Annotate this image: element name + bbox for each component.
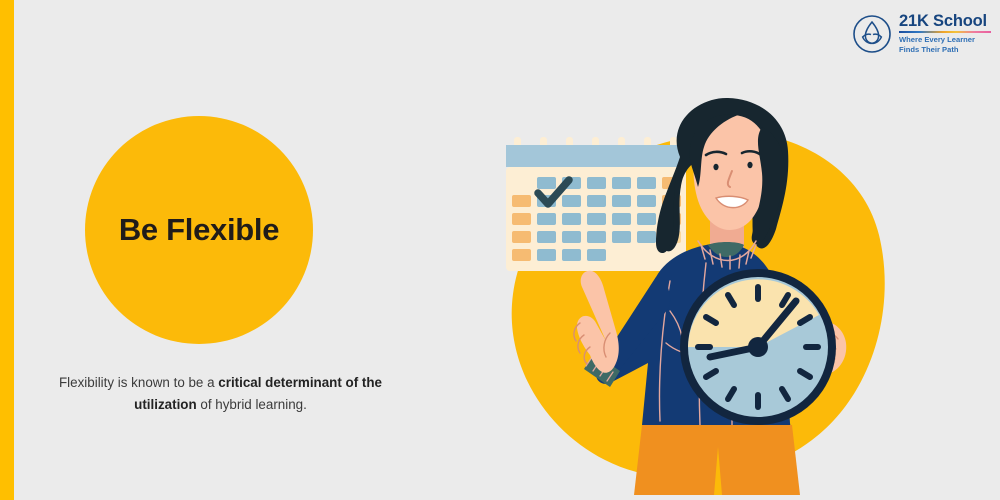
illustration-woman-with-calendar-and-clock — [470, 95, 900, 495]
brand-gradient-rule — [899, 31, 991, 33]
left-accent-bar — [0, 0, 14, 500]
clock-center-pin — [748, 337, 768, 357]
promo-card: 21K School Where Every Learner Finds The… — [0, 0, 1000, 500]
brand-tagline-line2: Finds Their Path — [899, 45, 991, 55]
lotus-in-circle-icon — [852, 14, 892, 54]
clock — [680, 269, 836, 425]
hero-description-lead: Flexibility is known to be a — [59, 375, 218, 390]
brand-tagline: Where Every Learner Finds Their Path — [899, 35, 991, 54]
person-eye-left — [713, 164, 718, 170]
person-eye-right — [747, 162, 752, 168]
page-title: Be Flexible — [60, 212, 338, 248]
brand-name: 21K School — [899, 13, 991, 30]
brand-logo-text: 21K School Where Every Learner Finds The… — [899, 13, 991, 54]
brand-tagline-line1: Where Every Learner — [899, 35, 991, 45]
hero-description-tail: of hybrid learning. — [197, 397, 307, 412]
brand-logo[interactable]: 21K School Where Every Learner Finds The… — [852, 10, 992, 58]
hero-description: Flexibility is known to be a critical de… — [48, 372, 393, 415]
calendar-header — [506, 145, 686, 167]
